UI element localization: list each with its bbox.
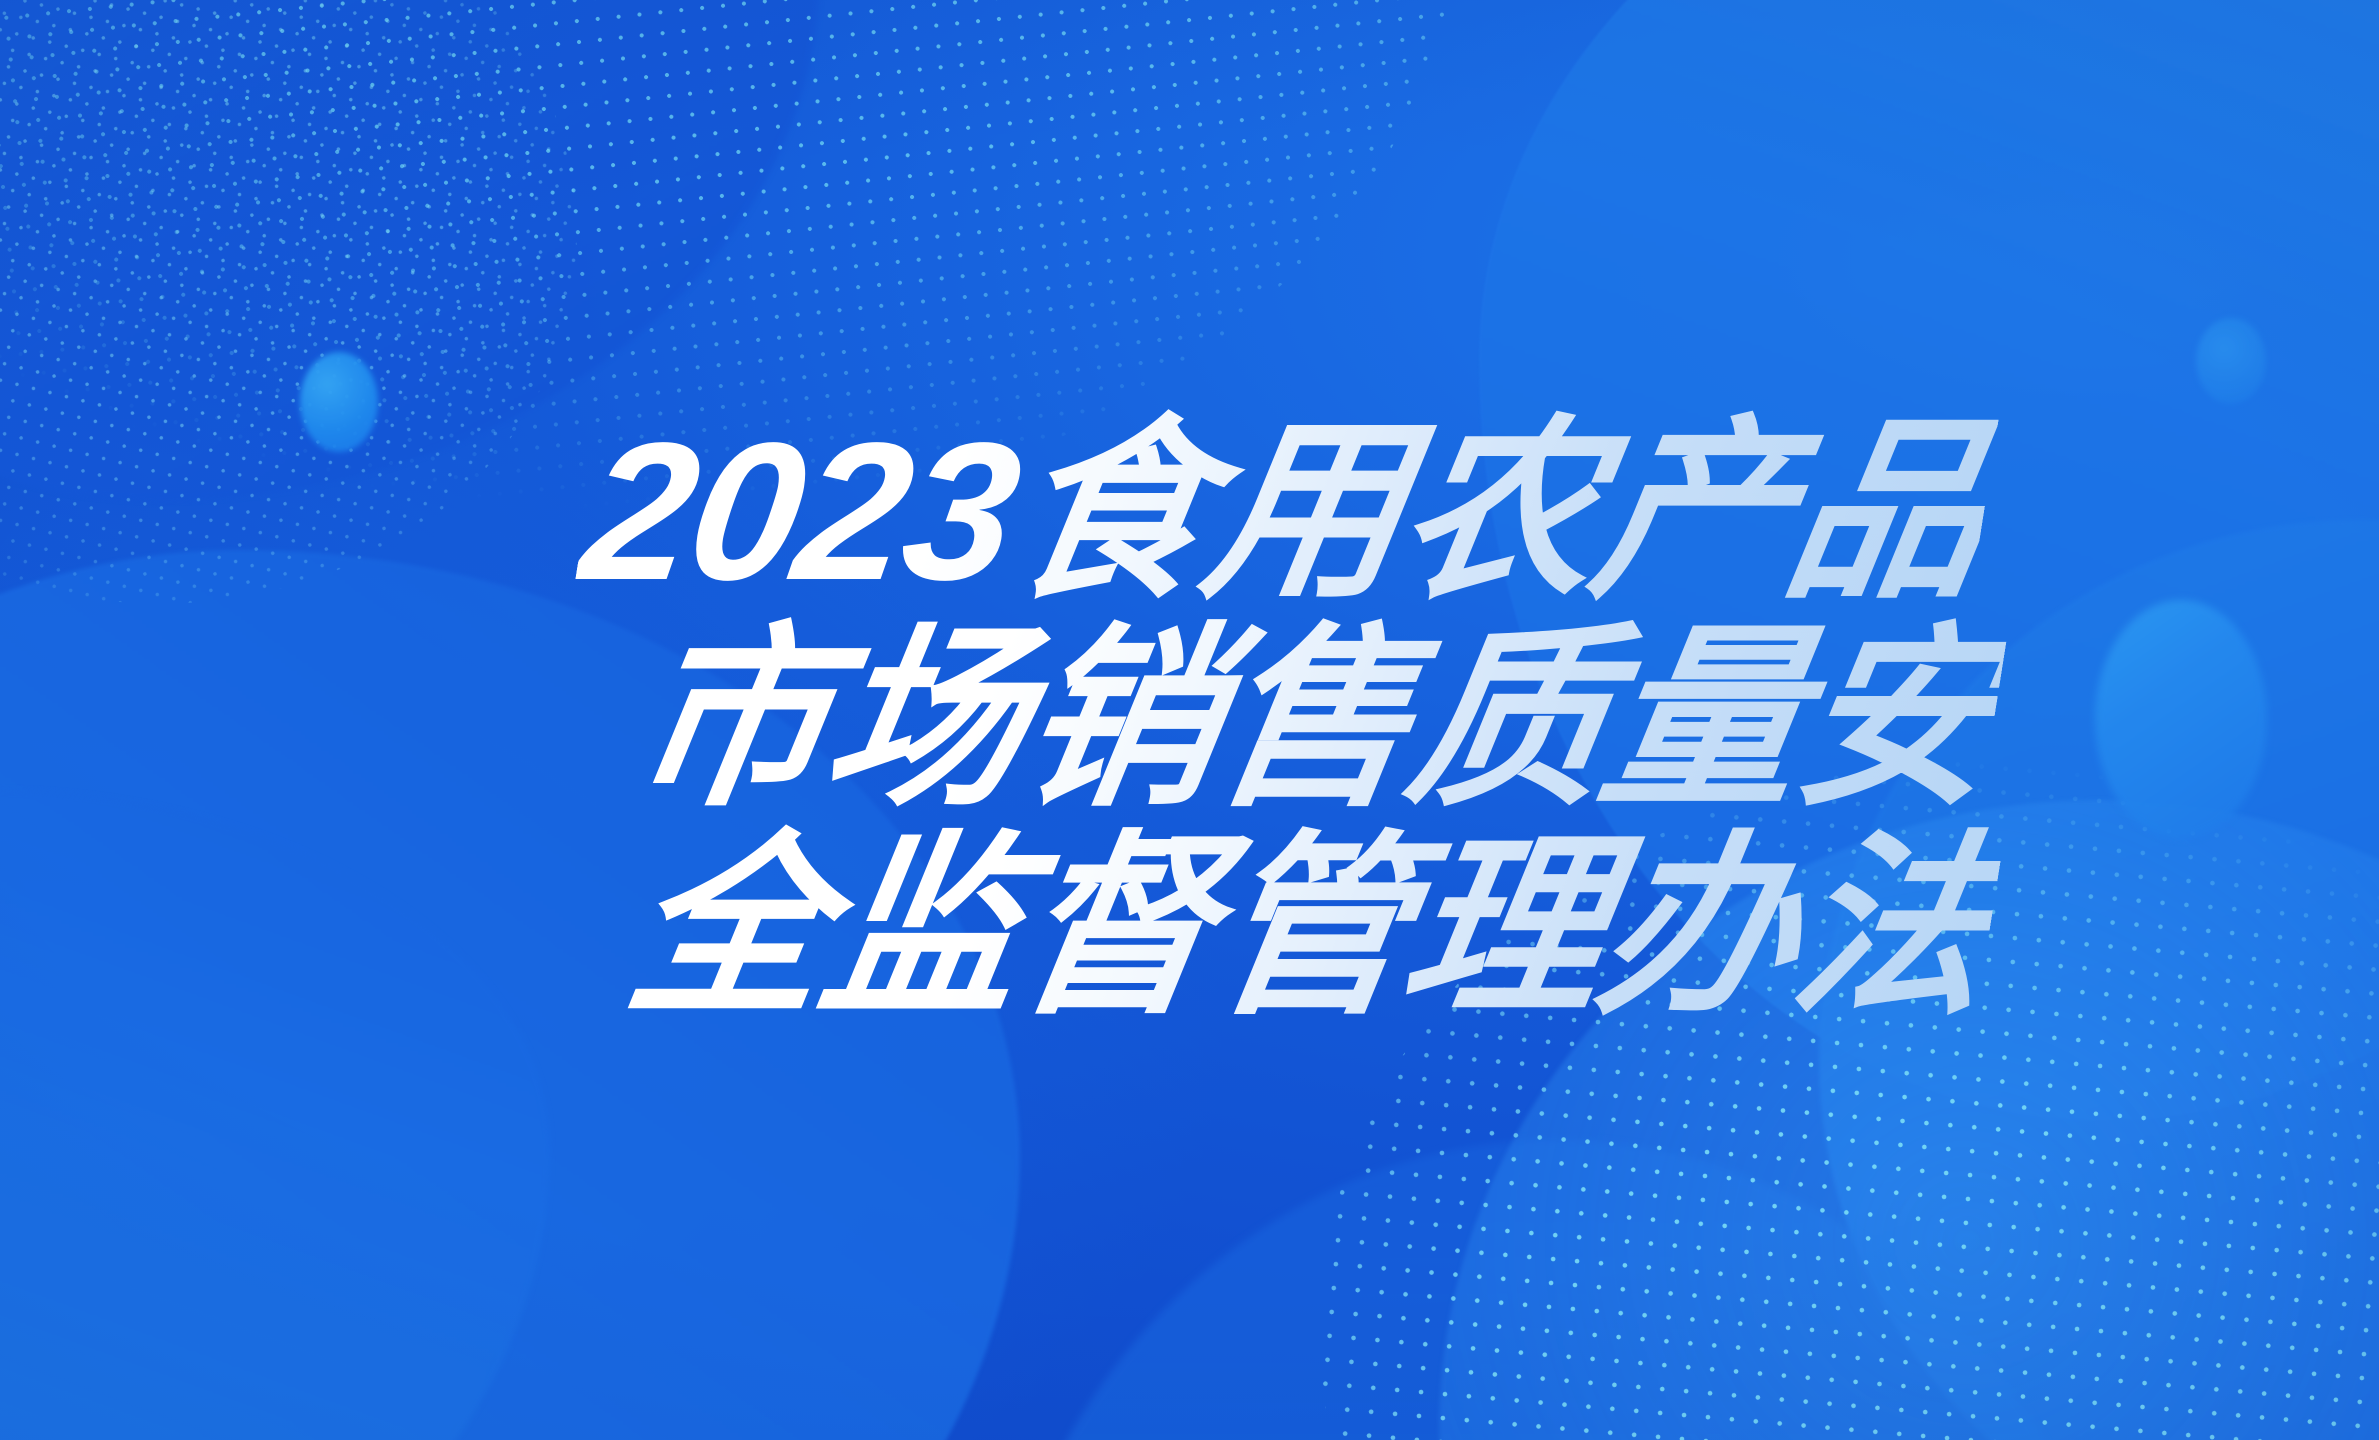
poster-title: 2023食用农产品 市场销售质量安 全监督管理办法 <box>0 0 2379 1440</box>
title-line-1: 2023食用农产品 <box>570 408 2001 616</box>
title-line-3: 全监督管理办法 <box>616 824 2007 1032</box>
poster-canvas: 2023食用农产品 市场销售质量安 全监督管理办法 <box>0 0 2379 1440</box>
title-line-2: 市场销售质量安 <box>620 616 2011 824</box>
